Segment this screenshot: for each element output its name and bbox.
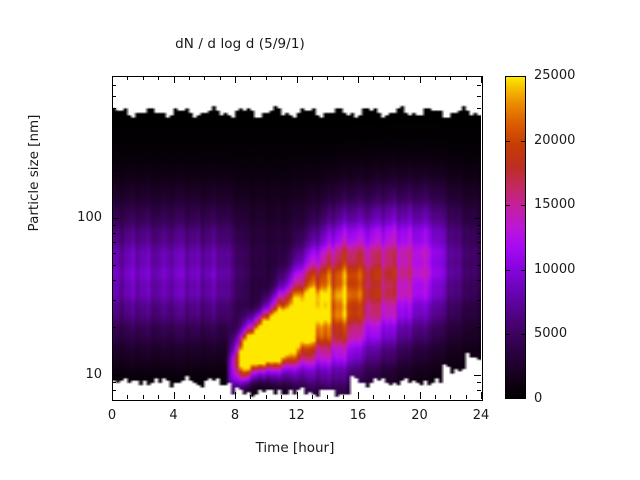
colorbar-tick-label: 10000 xyxy=(534,262,575,277)
x-tick-top xyxy=(404,76,405,80)
y-tick-right xyxy=(477,265,481,266)
x-tick-top xyxy=(450,76,451,80)
colorbar-tick-label: 20000 xyxy=(534,133,575,148)
x-tick-top xyxy=(220,76,221,80)
colorbar-tick xyxy=(521,270,526,271)
x-tick-top xyxy=(481,76,482,83)
y-tick-right xyxy=(477,280,481,281)
colorbar-tick-label: 25000 xyxy=(534,68,575,83)
x-tick-top xyxy=(373,76,374,80)
x-tick xyxy=(435,395,436,399)
y-tick xyxy=(112,233,116,234)
x-tick-top xyxy=(435,76,436,80)
x-tick-top xyxy=(174,76,175,83)
y-tick-right xyxy=(477,390,481,391)
colorbar-tick xyxy=(505,141,510,142)
x-tick xyxy=(220,395,221,399)
x-tick-top xyxy=(266,76,267,80)
x-tick-top xyxy=(312,76,313,80)
y-tick xyxy=(112,123,116,124)
colorbar-tick xyxy=(521,205,526,206)
x-tick xyxy=(235,392,236,399)
heatmap-plot-area[interactable] xyxy=(112,76,481,399)
x-tick-top xyxy=(358,76,359,83)
x-tick xyxy=(127,395,128,399)
y-tick-right xyxy=(477,85,481,86)
x-tick xyxy=(112,392,113,399)
y-tick xyxy=(112,327,116,328)
x-tick xyxy=(420,392,421,399)
x-tick xyxy=(174,392,175,399)
x-tick-top xyxy=(250,76,251,80)
colorbar-gradient xyxy=(506,77,525,398)
y-tick-right xyxy=(477,225,481,226)
heatmap-render xyxy=(112,76,481,399)
y-tick-right xyxy=(477,253,481,254)
x-tick xyxy=(373,395,374,399)
y-tick-label: 100 xyxy=(42,210,102,225)
y-tick-right xyxy=(477,143,481,144)
y-tick xyxy=(112,300,116,301)
y-tick xyxy=(112,265,116,266)
x-tick xyxy=(297,392,298,399)
y-tick xyxy=(112,170,116,171)
x-tick-label: 0 xyxy=(82,408,142,423)
x-tick xyxy=(404,395,405,399)
colorbar-tick-label: 0 xyxy=(534,391,542,406)
x-tick-label: 8 xyxy=(205,408,265,423)
colorbar-tick xyxy=(521,334,526,335)
x-tick-top xyxy=(466,76,467,80)
colorbar-tick-label: 15000 xyxy=(534,197,575,212)
x-tick-top xyxy=(158,76,159,80)
colorbar-tick xyxy=(505,205,510,206)
y-tick-right xyxy=(477,300,481,301)
y-tick xyxy=(112,253,116,254)
colorbar[interactable] xyxy=(505,76,526,399)
x-tick xyxy=(327,395,328,399)
x-tick xyxy=(450,395,451,399)
x-axis-title: Time [hour] xyxy=(0,440,590,456)
x-tick xyxy=(143,395,144,399)
colorbar-tick xyxy=(505,270,510,271)
y-tick-right xyxy=(477,170,481,171)
x-tick-top xyxy=(343,76,344,80)
y-tick xyxy=(112,96,116,97)
y-tick-right xyxy=(474,218,481,219)
y-tick-right xyxy=(477,96,481,97)
y-tick-label: 10 xyxy=(42,367,102,382)
colorbar-tick xyxy=(521,141,526,142)
y-tick xyxy=(112,375,119,376)
y-tick xyxy=(112,242,116,243)
y-tick-right xyxy=(477,382,481,383)
x-tick-top xyxy=(327,76,328,80)
x-tick xyxy=(281,395,282,399)
x-tick xyxy=(466,395,467,399)
y-tick-right xyxy=(477,108,481,109)
y-tick xyxy=(112,382,116,383)
x-tick-top xyxy=(235,76,236,83)
x-tick xyxy=(358,392,359,399)
y-tick xyxy=(112,108,116,109)
x-tick xyxy=(343,395,344,399)
x-tick xyxy=(158,395,159,399)
x-tick xyxy=(189,395,190,399)
y-tick xyxy=(112,225,116,226)
y-tick-right xyxy=(477,242,481,243)
y-axis-title: Particle size [nm] xyxy=(26,73,42,273)
x-tick-top xyxy=(143,76,144,80)
x-tick-top xyxy=(189,76,190,80)
x-tick-label: 12 xyxy=(267,408,327,423)
x-tick-label: 4 xyxy=(144,408,204,423)
x-tick-label: 20 xyxy=(390,408,450,423)
x-tick-top xyxy=(204,76,205,80)
y-tick xyxy=(112,143,116,144)
x-tick-top xyxy=(389,76,390,80)
x-tick-top xyxy=(297,76,298,83)
x-tick-top xyxy=(112,76,113,83)
heatmap-image xyxy=(112,76,481,399)
y-tick xyxy=(112,280,116,281)
x-tick xyxy=(312,395,313,399)
x-tick xyxy=(266,395,267,399)
x-tick xyxy=(389,395,390,399)
y-tick-right xyxy=(477,123,481,124)
y-tick-right xyxy=(474,375,481,376)
y-tick xyxy=(112,85,116,86)
x-tick xyxy=(250,395,251,399)
y-tick-right xyxy=(477,233,481,234)
figure-canvas: dN / d log d (5/9/1) 04812162024 10100 T… xyxy=(0,0,640,480)
x-tick-label: 16 xyxy=(328,408,388,423)
x-tick-top xyxy=(127,76,128,80)
colorbar-tick xyxy=(505,334,510,335)
y-tick xyxy=(112,218,119,219)
x-tick xyxy=(481,392,482,399)
x-tick-top xyxy=(281,76,282,80)
y-tick xyxy=(112,390,116,391)
colorbar-tick-label: 5000 xyxy=(534,326,567,341)
x-tick xyxy=(204,395,205,399)
y-tick-right xyxy=(477,327,481,328)
chart-title: dN / d log d (5/9/1) xyxy=(0,36,480,52)
x-tick-top xyxy=(420,76,421,83)
x-tick-label: 24 xyxy=(451,408,511,423)
